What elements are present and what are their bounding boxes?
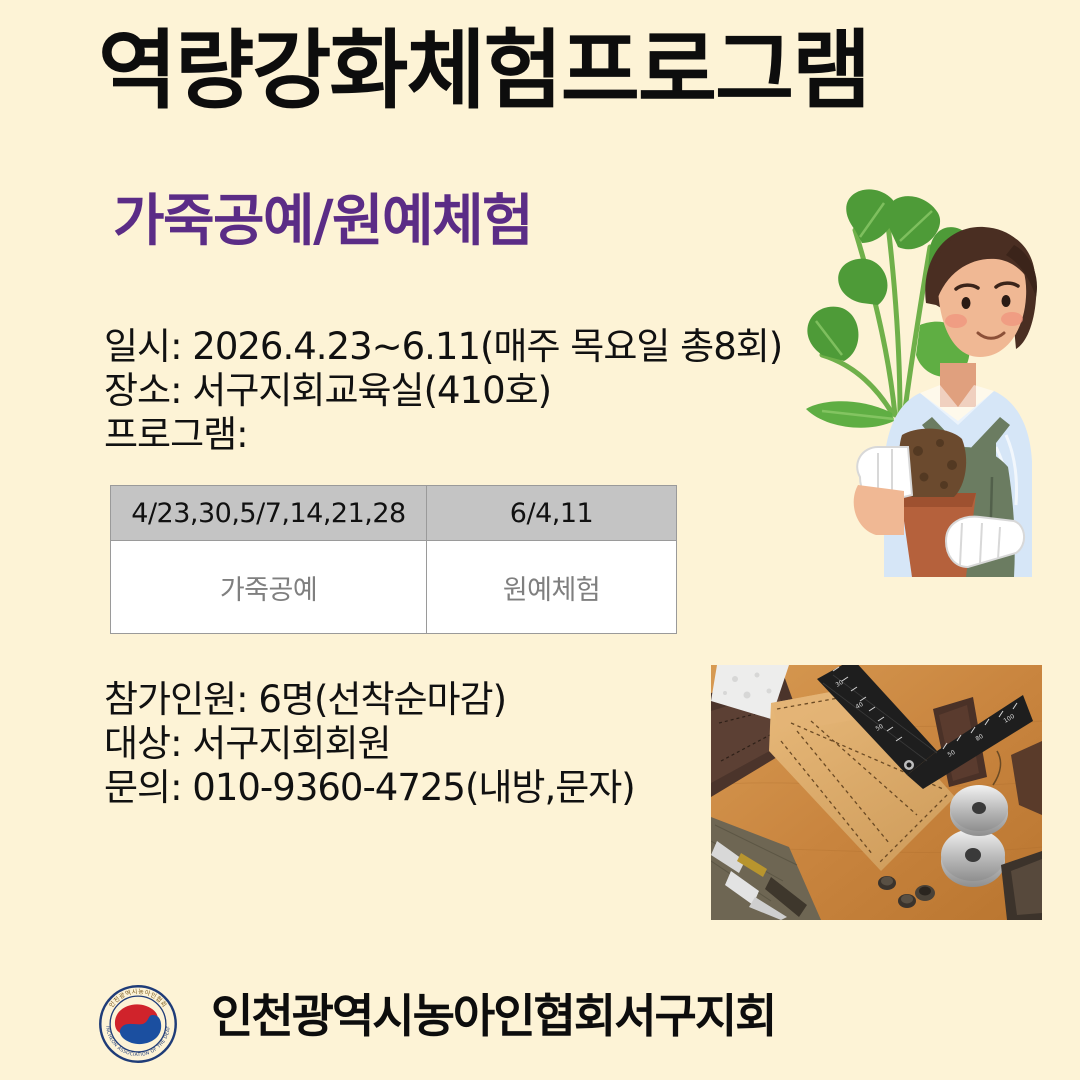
program-details-block: 일시: 2026.4.23~6.11(매주 목요일 총8회) 장소: 서구지회교… [104, 325, 782, 457]
page-title: 역량강화체험프로그램 [98, 22, 869, 121]
table-row: 가죽공예 원예체험 [111, 541, 677, 634]
table-header-dates-1: 4/23,30,5/7,14,21,28 [111, 486, 427, 541]
detail-schedule: 일시: 2026.4.23~6.11(매주 목요일 총8회) [104, 325, 782, 369]
table-cell-activity-2: 원예체험 [427, 541, 677, 634]
detail-capacity: 참가인원: 6명(선착순마감) [104, 678, 635, 722]
page-subtitle: 가죽공예/원예체험 [113, 190, 532, 254]
poster-canvas: 역량강화체험프로그램 가죽공예/원예체험 일시: 2026.4.23~6.11(… [0, 0, 1080, 1080]
program-schedule-table: 4/23,30,5/7,14,21,28 6/4,11 가죽공예 원예체험 [110, 485, 677, 634]
detail-contact: 문의: 010-9360-4725(내방,문자) [104, 766, 635, 810]
detail-target: 대상: 서구지회회원 [104, 722, 635, 766]
detail-place: 장소: 서구지회교육실(410호) [104, 369, 782, 413]
leather-crafting-photo: 30 40 50 50 80 100 [711, 665, 1042, 920]
organization-name: 인천광역시농아인협회서구지회 [211, 989, 775, 1044]
gardening-illustration [800, 185, 1080, 635]
table-header-row: 4/23,30,5/7,14,21,28 6/4,11 [111, 486, 677, 541]
table-header-dates-2: 6/4,11 [427, 486, 677, 541]
table-cell-activity-1: 가죽공예 [111, 541, 427, 634]
detail-program-label: 프로그램: [104, 413, 782, 457]
participation-details-block: 참가인원: 6명(선착순마감) 대상: 서구지회회원 문의: 010-9360-… [104, 678, 635, 810]
organization-logo-icon: 인천광역시농아인협회 INCHEON ASSOCIATION OF THE DE… [97, 983, 179, 1065]
